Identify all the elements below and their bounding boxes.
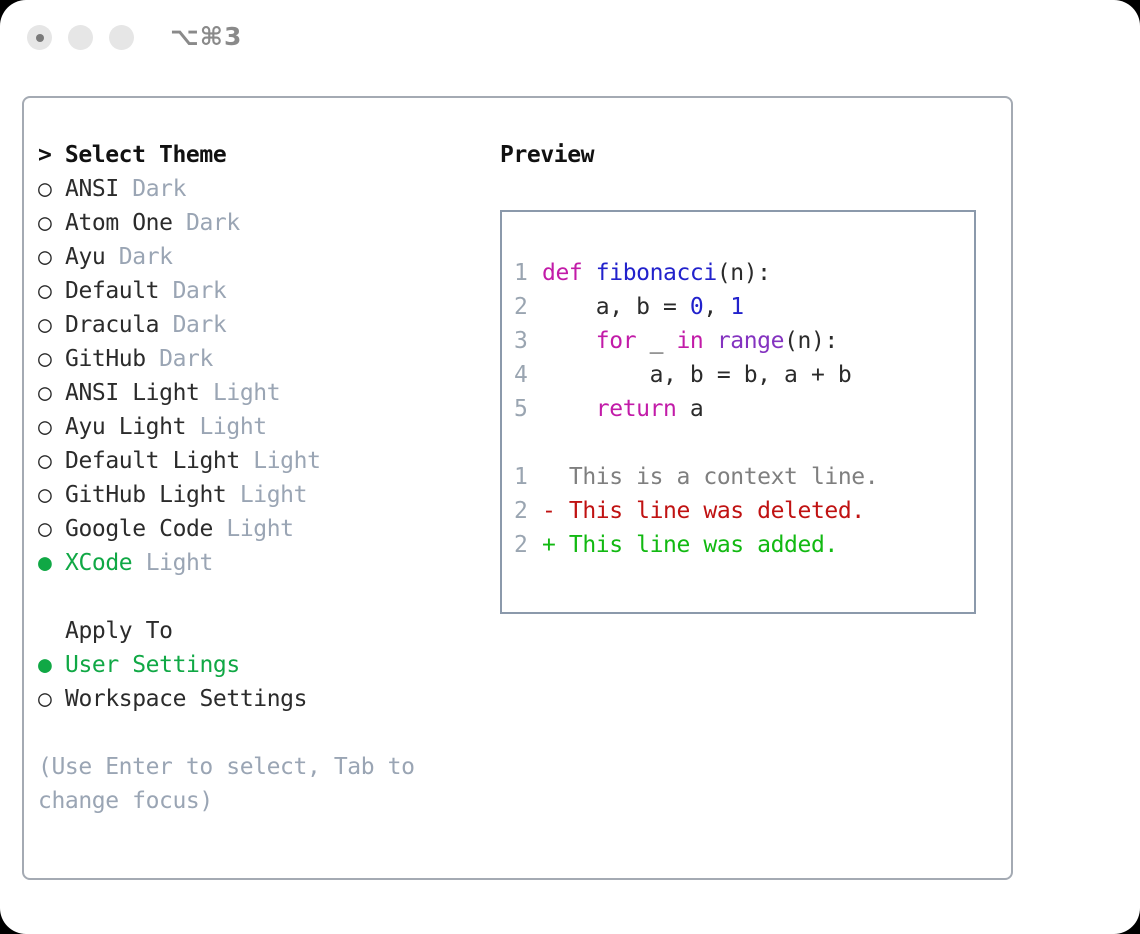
window-button-1[interactable]	[27, 25, 52, 50]
theme-option[interactable]: ○Default Light Light	[38, 444, 488, 478]
diff-line: 1 This is a context line.	[514, 460, 974, 494]
code-token: (n):	[784, 328, 838, 354]
diff-line-number: 2	[514, 494, 542, 528]
theme-option[interactable]: ○GitHub Light Light	[38, 478, 488, 512]
spacer	[186, 414, 199, 440]
radio-selected-icon: ●	[38, 546, 65, 580]
theme-option-tag: Dark	[173, 312, 227, 338]
theme-option-label: ANSI	[65, 176, 119, 202]
radio-unselected-icon: ○	[38, 444, 65, 478]
theme-option-label: Atom One	[65, 210, 173, 236]
spacer	[159, 312, 172, 338]
radio-unselected-icon: ○	[38, 206, 65, 240]
apply-to-option[interactable]: ●User Settings	[38, 648, 488, 682]
theme-option-label: Ayu	[65, 244, 105, 270]
code-token: (n):	[717, 260, 771, 286]
theme-option[interactable]: ●XCode Light	[38, 546, 488, 580]
radio-unselected-icon: ○	[38, 478, 65, 512]
diff-line: 2+ This line was added.	[514, 528, 974, 562]
code-token: a	[676, 396, 703, 422]
theme-option-label: GitHub Light	[65, 482, 226, 508]
spacer	[199, 380, 212, 406]
code-line: 4 a, b = b, a + b	[514, 358, 974, 392]
diff-line-number: 1	[514, 460, 542, 494]
theme-option-label: XCode	[65, 550, 132, 576]
theme-selector-column: > Select Theme ○ANSI Dark○Atom One Dark○…	[38, 138, 488, 818]
apply-to-header-label: Apply To	[65, 618, 173, 644]
radio-unselected-icon: ○	[38, 512, 65, 546]
spacer	[119, 176, 132, 202]
spacer	[240, 448, 253, 474]
theme-option[interactable]: ○Ayu Light Light	[38, 410, 488, 444]
code-line-number: 4	[514, 358, 542, 392]
keyboard-hint-text: (Use Enter to select, Tab to change focu…	[38, 750, 448, 818]
spacer	[213, 516, 226, 542]
spacer	[105, 244, 118, 270]
radio-unselected-icon: ○	[38, 308, 65, 342]
code-token: for	[596, 328, 636, 354]
code-line: 3 for _ in range(n):	[514, 324, 974, 358]
diff-sample: 1 This is a context line.2- This line wa…	[514, 460, 974, 562]
code-token	[542, 328, 596, 354]
code-preview-box: 1def fibonacci(n):2 a, b = 0, 13 for _ i…	[500, 210, 976, 614]
spacer	[132, 550, 145, 576]
radio-unselected-icon: ○	[38, 274, 65, 308]
code-token: fibonacci	[596, 260, 717, 286]
window-controls	[27, 25, 134, 50]
theme-option-label: Default Light	[65, 448, 240, 474]
code-line-number: 5	[514, 392, 542, 426]
diff-line-text: This is a context line.	[542, 464, 878, 490]
theme-option-tag: Dark	[132, 176, 186, 202]
apply-to-option[interactable]: ○Workspace Settings	[38, 682, 488, 716]
theme-option-tag: Dark	[119, 244, 173, 270]
theme-option[interactable]: ○GitHub Dark	[38, 342, 488, 376]
theme-list[interactable]: ○ANSI Dark○Atom One Dark○Ayu Dark○Defaul…	[38, 172, 488, 580]
preview-column: Preview 1def fibonacci(n):2 a, b = 0, 13…	[500, 138, 1000, 614]
theme-option-tag: Light	[199, 414, 266, 440]
theme-option-tag: Dark	[159, 346, 213, 372]
theme-option-tag: Light	[146, 550, 213, 576]
spacer	[173, 210, 186, 236]
code-token: in	[676, 328, 703, 354]
theme-option-tag: Light	[213, 380, 280, 406]
theme-option-label: Ayu Light	[65, 414, 186, 440]
code-token: a, b = b, a + b	[542, 362, 851, 388]
code-token: return	[596, 396, 677, 422]
main-panel: > Select Theme ○ANSI Dark○Atom One Dark○…	[22, 96, 1013, 880]
radio-unselected-icon: ○	[38, 342, 65, 376]
code-line-number: 1	[514, 256, 542, 290]
title-bar: ⌥⌘3	[0, 0, 1140, 78]
code-token	[542, 396, 596, 422]
code-token: 0	[690, 294, 703, 320]
code-token	[703, 328, 716, 354]
apply-to-option-label: User Settings	[65, 652, 240, 678]
theme-option-label: Default	[65, 278, 159, 304]
code-line-number: 3	[514, 324, 542, 358]
preview-title: Preview	[500, 138, 1000, 172]
radio-unselected-icon: ○	[38, 240, 65, 274]
theme-option[interactable]: ○ANSI Light Light	[38, 376, 488, 410]
spacer	[159, 278, 172, 304]
theme-option[interactable]: ○Dracula Dark	[38, 308, 488, 342]
code-token: range	[717, 328, 784, 354]
code-line-number: 2	[514, 290, 542, 324]
diff-line-text: - This line was deleted.	[542, 498, 865, 524]
theme-option-label: Dracula	[65, 312, 159, 338]
theme-option-label: GitHub	[65, 346, 146, 372]
code-token: ,	[703, 294, 730, 320]
radio-unselected-icon: ○	[38, 682, 65, 716]
radio-selected-icon: ●	[38, 648, 65, 682]
theme-option-tag: Light	[253, 448, 320, 474]
spacer	[146, 346, 159, 372]
code-line: 1def fibonacci(n):	[514, 256, 974, 290]
apply-to-header: Apply To	[38, 614, 488, 648]
theme-option-tag: Dark	[186, 210, 240, 236]
code-line: 5 return a	[514, 392, 974, 426]
window-button-2[interactable]	[68, 25, 93, 50]
diff-line-number: 2	[514, 528, 542, 562]
window-button-3[interactable]	[109, 25, 134, 50]
radio-unselected-icon: ○	[38, 172, 65, 206]
select-theme-header: > Select Theme	[38, 138, 488, 172]
app-window: ⌥⌘3 > Select Theme ○ANSI Dark○Atom One D…	[0, 0, 1140, 934]
theme-option[interactable]: ○Atom One Dark	[38, 206, 488, 240]
diff-line: 2- This line was deleted.	[514, 494, 974, 528]
theme-option[interactable]: ○Ayu Dark	[38, 240, 488, 274]
code-line: 2 a, b = 0, 1	[514, 290, 974, 324]
radio-unselected-icon: ○	[38, 376, 65, 410]
radio-unselected-icon: ○	[38, 410, 65, 444]
keyboard-shortcut-label: ⌥⌘3	[170, 22, 242, 51]
theme-option-label: Google Code	[65, 516, 213, 542]
theme-option[interactable]: ○Google Code Light	[38, 512, 488, 546]
code-sample: 1def fibonacci(n):2 a, b = 0, 13 for _ i…	[514, 256, 974, 426]
apply-to-list[interactable]: ●User Settings○Workspace Settings	[38, 648, 488, 716]
theme-option-tag: Light	[226, 516, 293, 542]
apply-to-option-label: Workspace Settings	[65, 686, 307, 712]
code-token: 1	[730, 294, 743, 320]
spacer	[226, 482, 239, 508]
theme-option[interactable]: ○ANSI Dark	[38, 172, 488, 206]
theme-option-label: ANSI Light	[65, 380, 199, 406]
diff-line-text: + This line was added.	[542, 532, 838, 558]
code-token: a, b =	[542, 294, 690, 320]
code-token: _	[636, 328, 676, 354]
code-token: def	[542, 260, 596, 286]
theme-option[interactable]: ○Default Dark	[38, 274, 488, 308]
theme-option-tag: Light	[240, 482, 307, 508]
theme-option-tag: Dark	[173, 278, 227, 304]
